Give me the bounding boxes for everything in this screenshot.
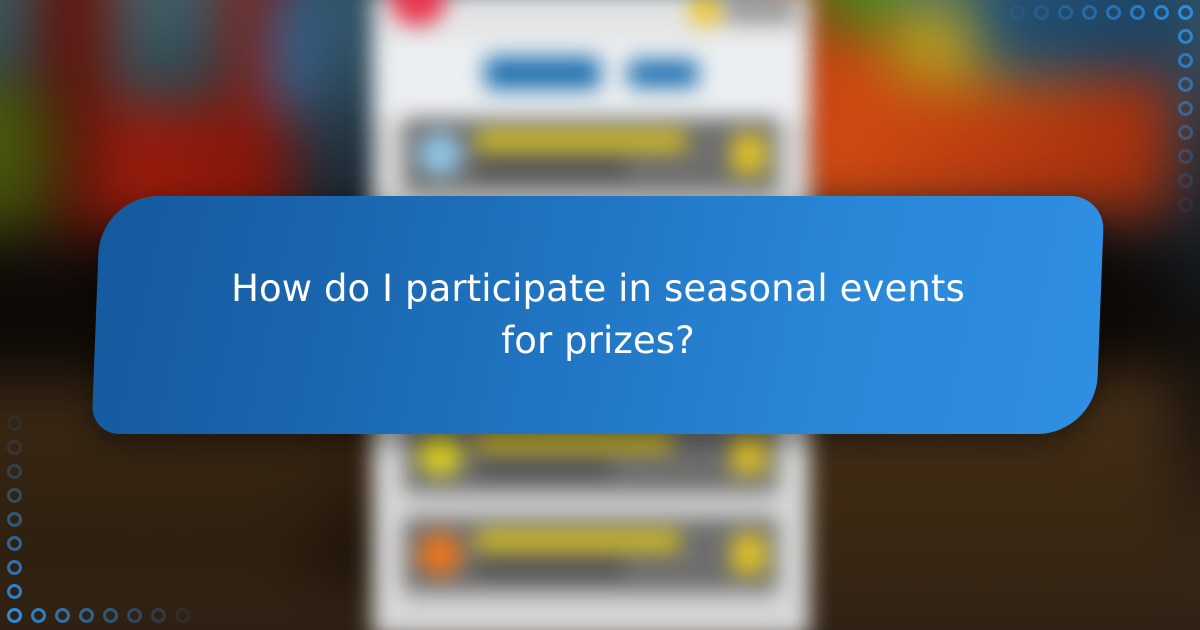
mockup-row-title: [476, 131, 686, 151]
mockup-coin-counter: [724, 0, 796, 22]
decorative-dot: [151, 608, 166, 623]
decorative-dot: [79, 608, 94, 623]
decorative-dot: [1082, 5, 1097, 20]
background-sign: [274, 0, 302, 108]
question-card-text-area: How do I participate in seasonal events …: [96, 196, 1100, 434]
background-train-window-mid: [110, 0, 227, 103]
background-sky-right: [971, 0, 1183, 77]
decorative-dot: [1178, 29, 1193, 44]
decorative-dot: [1178, 77, 1193, 92]
decorative-dot: [1178, 5, 1193, 20]
decorative-dot: [7, 584, 22, 599]
decorative-dot: [103, 608, 118, 623]
mockup-row-title: [476, 431, 672, 451]
decorative-dot: [7, 440, 22, 455]
decorative-dot: [1178, 149, 1193, 164]
decorative-dot: [1178, 125, 1193, 140]
decorative-dot: [1178, 173, 1193, 188]
mockup-row-icon: [418, 532, 462, 576]
mockup-row-subtitle: [476, 460, 612, 475]
mockup-row-title: [476, 531, 680, 551]
mockup-heading-word-1: [485, 57, 600, 89]
decorative-dot: [1178, 197, 1193, 212]
decorative-dot: [175, 608, 190, 623]
mockup-list-row: [404, 118, 778, 192]
decorative-dot: [1010, 5, 1025, 20]
share-card-canvas: How do I participate in seasonal events …: [0, 0, 1200, 630]
background-foliage: [0, 79, 59, 238]
background-train-window-right: [897, 0, 963, 7]
mockup-row-separator: [404, 492, 778, 518]
decorative-dot: [1178, 53, 1193, 68]
mockup-row-subtitle: [476, 560, 624, 575]
decorative-dot: [7, 560, 22, 575]
mockup-heading-word-2: [628, 60, 698, 87]
decorative-dot: [7, 488, 22, 503]
question-card[interactable]: How do I participate in seasonal events …: [96, 196, 1100, 434]
question-text: How do I participate in seasonal events …: [214, 263, 982, 367]
mockup-row-separator: [404, 592, 778, 618]
decorative-dot: [31, 608, 46, 623]
mockup-row-subtitle: [476, 160, 626, 175]
mockup-row-icon: [418, 432, 462, 476]
mockup-row-reward: [732, 434, 766, 474]
decorative-dot: [7, 464, 22, 479]
decorative-dot: [7, 536, 22, 551]
mockup-row-icon: [418, 132, 462, 176]
decorative-dot: [7, 512, 22, 527]
mockup-list-row: [404, 518, 778, 592]
decorative-dot: [127, 608, 142, 623]
mockup-row-reward: [732, 534, 766, 574]
decorative-dot: [7, 608, 22, 623]
decorative-dot: [7, 416, 22, 431]
decorative-dot: [1106, 5, 1121, 20]
decorative-dot: [1058, 5, 1073, 20]
decorative-dot: [1154, 5, 1169, 20]
decorative-dot: [1130, 5, 1145, 20]
decorative-dot: [1178, 101, 1193, 116]
mockup-row-reward: [732, 134, 766, 174]
decorative-dot: [1034, 5, 1049, 20]
decorative-dot: [55, 608, 70, 623]
